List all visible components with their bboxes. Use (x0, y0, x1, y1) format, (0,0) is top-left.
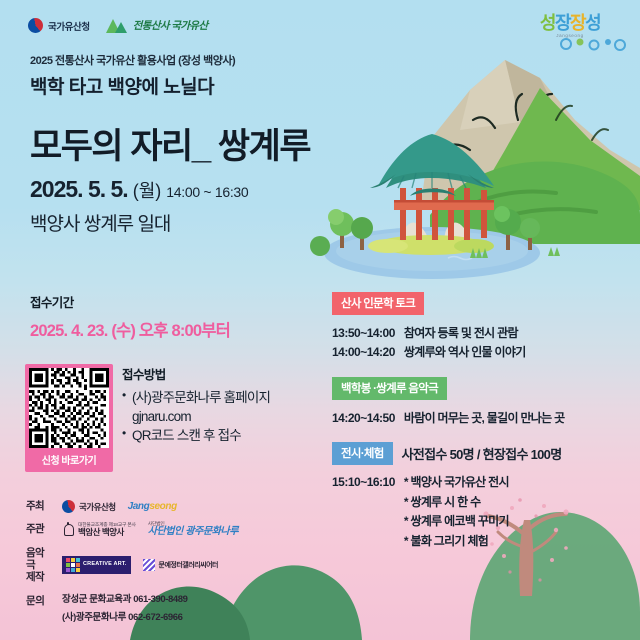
org-baegyangsa: 대한불교조계종 제18교구 본사 백암산 백양사 (62, 522, 136, 537)
registration-period-block: 접수기간 2025. 4. 23. (수) 오후 8:00부터 (30, 292, 230, 341)
foreground-hill (430, 162, 640, 244)
production-row: 음악극 제작 CREATIVE ART. 문예정터갤러리씨어터 (26, 547, 366, 583)
list-item: * 쌍계루 시 한 수 (404, 493, 509, 512)
contact-value: (사)광주문화나루 062-672-6966 (62, 610, 183, 627)
exhibit-header: 전시·체험 사전접수 50명 / 현장접수 100명 (332, 442, 624, 465)
registration-method-list: (사)광주문화나루 홈페이지 gjnaru.com QR코드 스캔 후 접수 (122, 388, 312, 445)
schedule-time: 14:00~14:20 (332, 343, 395, 362)
agency-logos: 국가유산청 전통산사 국가유산 (28, 18, 208, 33)
event-datetime: 2025. 5. 5. (월) 14:00 ~ 16:30 (30, 176, 248, 203)
mountain-temple-mark-icon (106, 18, 128, 33)
green-mountain (470, 88, 640, 210)
schedule-desc: 바람이 머무는 곳, 물길이 만나는 곳 (404, 409, 565, 428)
brand-char-2: 장 (555, 13, 570, 33)
list-item: (사)광주문화나루 홈페이지 (122, 388, 312, 407)
qr-code-image[interactable] (29, 368, 109, 448)
brand-subtitle: Jangseong (522, 33, 618, 38)
tree-cluster-left (310, 209, 373, 256)
org-heritage-administration: 국가유산청 (62, 500, 116, 513)
list-item: * 쌍계루 에코백 꾸미기 (404, 512, 509, 531)
event-venue: 백양사 쌍계루 일대 (30, 209, 170, 236)
jangseong-brand-logo: 성장장성 Jangseong (522, 14, 618, 38)
brand-wordmark: 성장장성 (522, 14, 618, 32)
status-badge: 전시·체험 (332, 442, 393, 465)
host-logos: 국가유산청 Jangseong (62, 500, 177, 513)
tree-cluster-right (470, 206, 560, 258)
footer-credits: 주최 국가유산청 Jangseong 주관 대한불교조계종 제18교구 본사 백 (26, 500, 366, 627)
registration-method-label: 접수방법 (122, 364, 312, 383)
list-item: QR코드 스캔 후 접수 (122, 426, 312, 445)
table-row: 14:20~14:50 바람이 머무는 곳, 물길이 만나는 곳 (332, 409, 624, 428)
table-row: 15:10~16:10 * 백양사 국가유산 전시 * 쌍계루 시 한 수 * … (332, 473, 624, 551)
org-label: 국가유산청 (79, 501, 116, 513)
org-creative-art: CREATIVE ART. (62, 556, 131, 574)
color-grid-icon (66, 558, 80, 572)
qr-apply-button[interactable]: 신청 바로가기 (29, 448, 109, 472)
program-section-talk: 산사 인문학 토크 13:50~14:00 참여자 등록 및 전시 관람 14:… (332, 292, 624, 363)
org-label: 문예정터갤러리씨어터 (159, 560, 218, 570)
schedule-time: 13:50~14:00 (332, 324, 395, 343)
production-label-line2: 제작 (26, 571, 44, 583)
schedule-desc: 쌍계루와 역사 인물 이야기 (404, 343, 526, 362)
schedule-desc: 참여자 등록 및 전시 관람 (404, 324, 518, 343)
brand-bubbles (561, 39, 625, 51)
org-label: 사단법인 광주문화나루 (148, 527, 238, 538)
organizer-row: 주관 대한불교조계종 제18교구 본사 백암산 백양사 사단법인 사단법인 광주… (26, 522, 366, 538)
contact-block: 문의 장성군 문화교육과 061-390-8489 (사)광주문화나루 062-… (26, 592, 366, 627)
program-tagline: 백학 타고 백양에 노닐다 (30, 72, 214, 99)
event-date: 2025. 5. 5. (30, 176, 128, 203)
table-row: 14:00~14:20 쌍계루와 역사 인물 이야기 (332, 343, 624, 362)
org-gwangju-munhwanaru: 사단법인 사단법인 광주문화나루 (148, 522, 238, 538)
registration-period-label: 접수기간 (30, 292, 230, 311)
event-day-of-week: (월) (133, 177, 162, 203)
logo-heritage-administration: 국가유산청 (28, 18, 90, 33)
org-label: CREATIVE ART. (83, 562, 127, 568)
rock-peak (420, 60, 640, 210)
exhibit-item-list: * 백양사 국가유산 전시 * 쌍계루 시 한 수 * 쌍계루 에코백 꾸미기 … (404, 473, 509, 551)
taegeuk-emblem-icon (28, 18, 43, 33)
temple-bell-icon (62, 522, 74, 537)
contact-row: 문의 장성군 문화교육과 061-390-8489 (26, 592, 366, 610)
organizer-logos: 대한불교조계종 제18교구 본사 백암산 백양사 사단법인 사단법인 광주문화나… (62, 522, 238, 538)
registration-period-value: 2025. 4. 23. (수) 오후 8:00부터 (30, 317, 230, 341)
org-label: 백암산 백양사 (78, 528, 136, 537)
producer-logos: CREATIVE ART. 문예정터갤러리씨어터 (62, 556, 218, 574)
event-time: 14:00 ~ 16:30 (166, 184, 248, 200)
table-row: 13:50~14:00 참여자 등록 및 전시 관람 (332, 324, 624, 343)
registration-method-block: 접수방법 (사)광주문화나루 홈페이지 gjnaru.com QR코드 스캔 후… (122, 364, 312, 445)
pavilion-base (368, 222, 494, 255)
contact-row: (사)광주문화나루 062-672-6966 (26, 610, 366, 627)
org-label: Jangseong (128, 501, 177, 512)
schedule-rows: 14:20~14:50 바람이 머무는 곳, 물길이 만나는 곳 (332, 409, 624, 428)
schedule-rows: 13:50~14:00 참여자 등록 및 전시 관람 14:00~14:20 쌍… (332, 324, 624, 363)
qr-frame[interactable]: 신청 바로가기 (25, 364, 113, 472)
schedule-time: 15:10~16:10 (332, 473, 395, 492)
program-section-exhibit: 전시·체험 사전접수 50명 / 현장접수 100명 15:10~16:10 *… (332, 442, 624, 551)
production-label-line1: 음악극 (26, 547, 44, 571)
program-kicker: 2025 전통산사 국가유산 활용사업 (장성 백양사) (30, 52, 235, 68)
contact-label: 문의 (26, 592, 52, 610)
qr-code-block[interactable]: 신청 바로가기 (25, 364, 113, 472)
program-schedule: 산사 인문학 토크 13:50~14:00 참여자 등록 및 전시 관람 14:… (332, 292, 624, 565)
production-label: 음악극 제작 (26, 547, 52, 583)
logo-heritage-label: 국가유산청 (48, 19, 90, 33)
org-jangseong-county: Jangseong (128, 501, 177, 512)
logo-traditional-temple-heritage: 전통산사 국가유산 (106, 18, 208, 33)
brand-char-3: 장 (570, 13, 585, 33)
pavilion-roof (370, 134, 494, 196)
page-title: 모두의 자리_ 쌍계루 (30, 118, 310, 169)
org-munye-gallery-theater: 문예정터갤러리씨어터 (143, 559, 218, 571)
status-badge: 백학봉 ·쌍계루 음악극 (332, 377, 447, 400)
schedule-rows: 15:10~16:10 * 백양사 국가유산 전시 * 쌍계루 시 한 수 * … (332, 473, 624, 551)
schedule-time: 14:20~14:50 (332, 409, 395, 428)
pavilion-railing (394, 201, 494, 210)
host-label: 주최 (26, 500, 52, 513)
brand-char-1: 성 (540, 13, 555, 33)
brand-char-4: 성 (585, 13, 600, 33)
capacity-text: 사전접수 50명 / 현장접수 100명 (402, 444, 562, 463)
host-row: 주최 국가유산청 Jangseong (26, 500, 366, 513)
list-item: * 백양사 국가유산 전시 (404, 473, 509, 492)
organizer-label: 주관 (26, 523, 52, 536)
list-item-website[interactable]: gjnaru.com (122, 407, 312, 426)
status-badge: 산사 인문학 토크 (332, 292, 424, 315)
list-item: * 불화 그리기 체험 (404, 532, 509, 551)
taegeuk-emblem-icon (62, 500, 75, 513)
program-section-music: 백학봉 ·쌍계루 음악극 14:20~14:50 바람이 머무는 곳, 물길이 … (332, 377, 624, 428)
contact-value: 장성군 문화교육과 061-390-8489 (62, 592, 188, 610)
pavilion-pillars (400, 188, 487, 240)
contact-label-spacer (26, 610, 52, 627)
pond (324, 227, 540, 279)
logo-temple-label: 전통산사 국가유산 (133, 18, 208, 33)
zigzag-mark-icon (143, 559, 155, 571)
event-poster: 국가유산청 전통산사 국가유산 성장장성 Jangseong 2025 전통산사… (0, 0, 640, 640)
